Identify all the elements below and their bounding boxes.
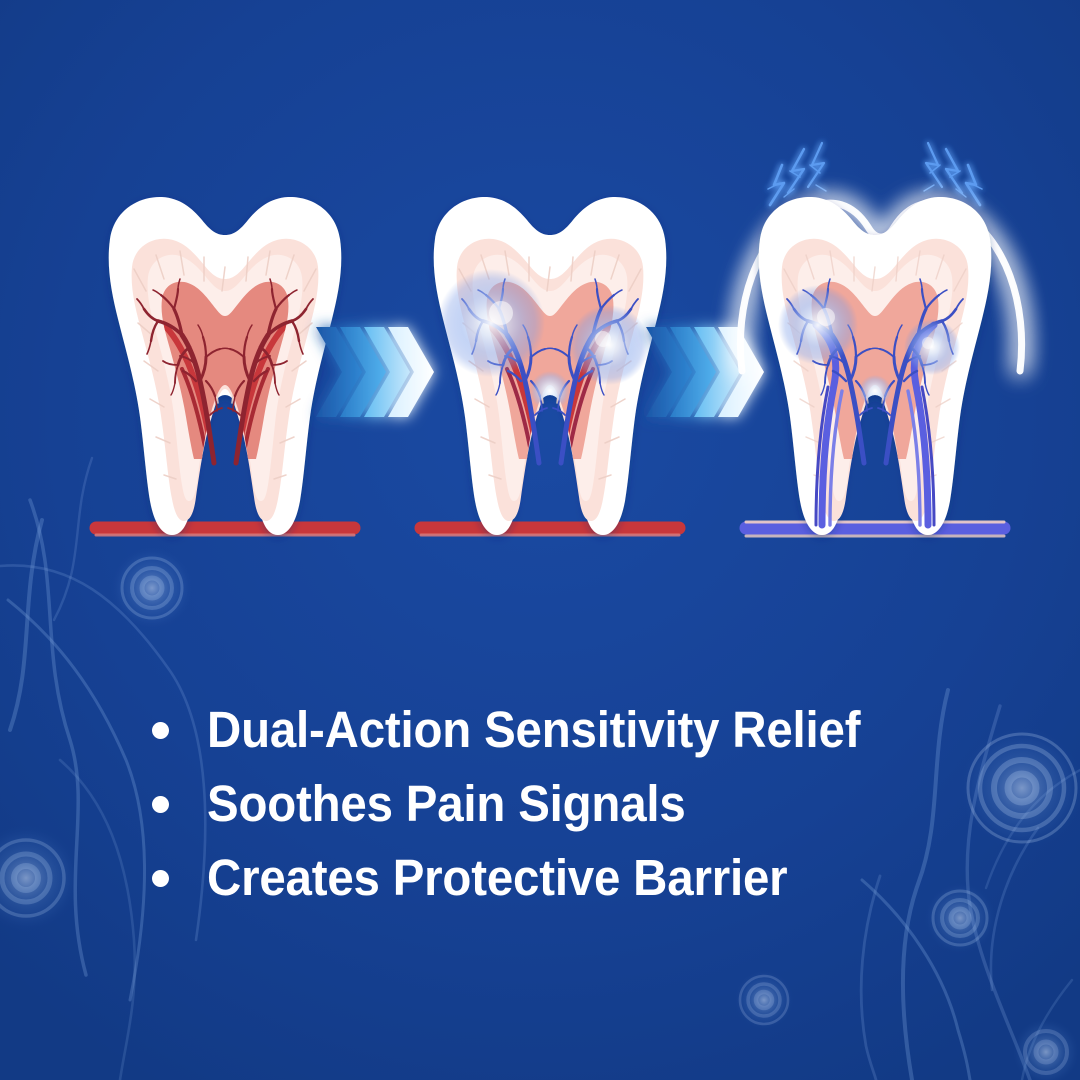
tooth-process-diagram [0,0,1080,1080]
arrow-stage-2-to-3 [646,327,764,417]
lightning-bolt-right-icon [924,143,982,205]
tooth-stage-1-inflamed [96,197,354,535]
poster-canvas: Dual-Action Sensitivity Relief Soothes P… [0,0,1080,1080]
benefit-label: Dual-Action Sensitivity Relief [207,702,860,757]
benefits-list: Dual-Action Sensitivity Relief Soothes P… [0,692,1080,914]
tooth-stage-3-protected [740,143,1021,536]
tooth-stage-2-soothed [421,197,679,535]
benefit-label: Soothes Pain Signals [207,776,686,831]
gumline-vessels-stage-2 [421,463,679,535]
bullet-marker-icon [152,870,169,887]
list-item: Creates Protective Barrier [0,840,1080,914]
arrow-stage-1-to-2 [316,327,434,417]
list-item: Dual-Action Sensitivity Relief [0,692,1080,766]
benefit-label: Creates Protective Barrier [207,850,787,905]
lightning-bolt-left-icon [768,143,826,205]
gumline-vessels-stage-1 [96,463,354,535]
gumline-vessels-stage-3 [746,463,1004,536]
bullet-marker-icon [152,796,169,813]
list-item: Soothes Pain Signals [0,766,1080,840]
bullet-marker-icon [152,722,169,739]
